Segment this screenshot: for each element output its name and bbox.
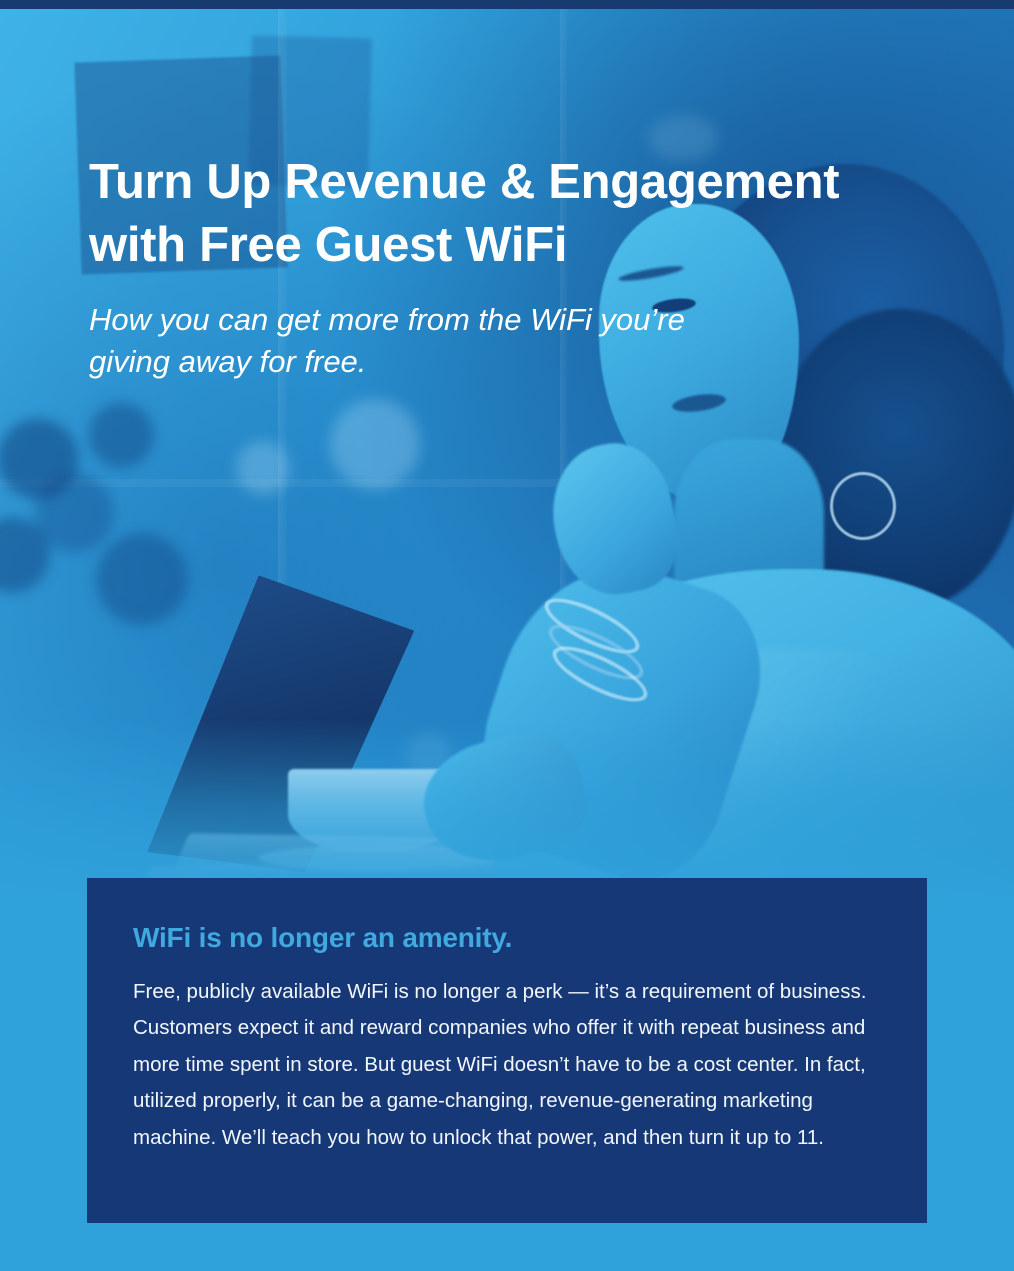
bokeh-light-4 [406, 733, 452, 779]
bokeh-light-2 [236, 441, 290, 495]
headline-line-2: with Free Guest WiFi [89, 214, 879, 277]
ebook-cover-page: Turn Up Revenue & Engagement with Free G… [0, 0, 1014, 1271]
callout-title: WiFi is no longer an amenity. [133, 922, 881, 954]
hand-on-laptop [412, 721, 596, 876]
background-foliage [0, 369, 220, 669]
page-subtitle: How you can get more from the WiFi you’r… [89, 299, 749, 383]
woman-figure [494, 9, 1014, 909]
callout-card: WiFi is no longer an amenity. Free, publ… [87, 878, 927, 1223]
papers-on-table [489, 818, 687, 858]
subhead-line-1: How you can get more from the WiFi you’r… [89, 302, 685, 337]
subhead-line-2: giving away for free. [89, 341, 749, 383]
callout-body: Free, publicly available WiFi is no long… [133, 974, 878, 1156]
coffee-saucer [258, 845, 498, 871]
top-accent-bar [0, 0, 1014, 9]
laptop-base [174, 833, 606, 876]
coffee-cup [288, 769, 458, 853]
hero-photo [0, 9, 1014, 909]
page-title: Turn Up Revenue & Engagement with Free G… [89, 151, 879, 276]
headline-line-1: Turn Up Revenue & Engagement [89, 155, 839, 209]
bokeh-light-1 [330, 399, 420, 489]
hoop-earring [830, 472, 896, 540]
